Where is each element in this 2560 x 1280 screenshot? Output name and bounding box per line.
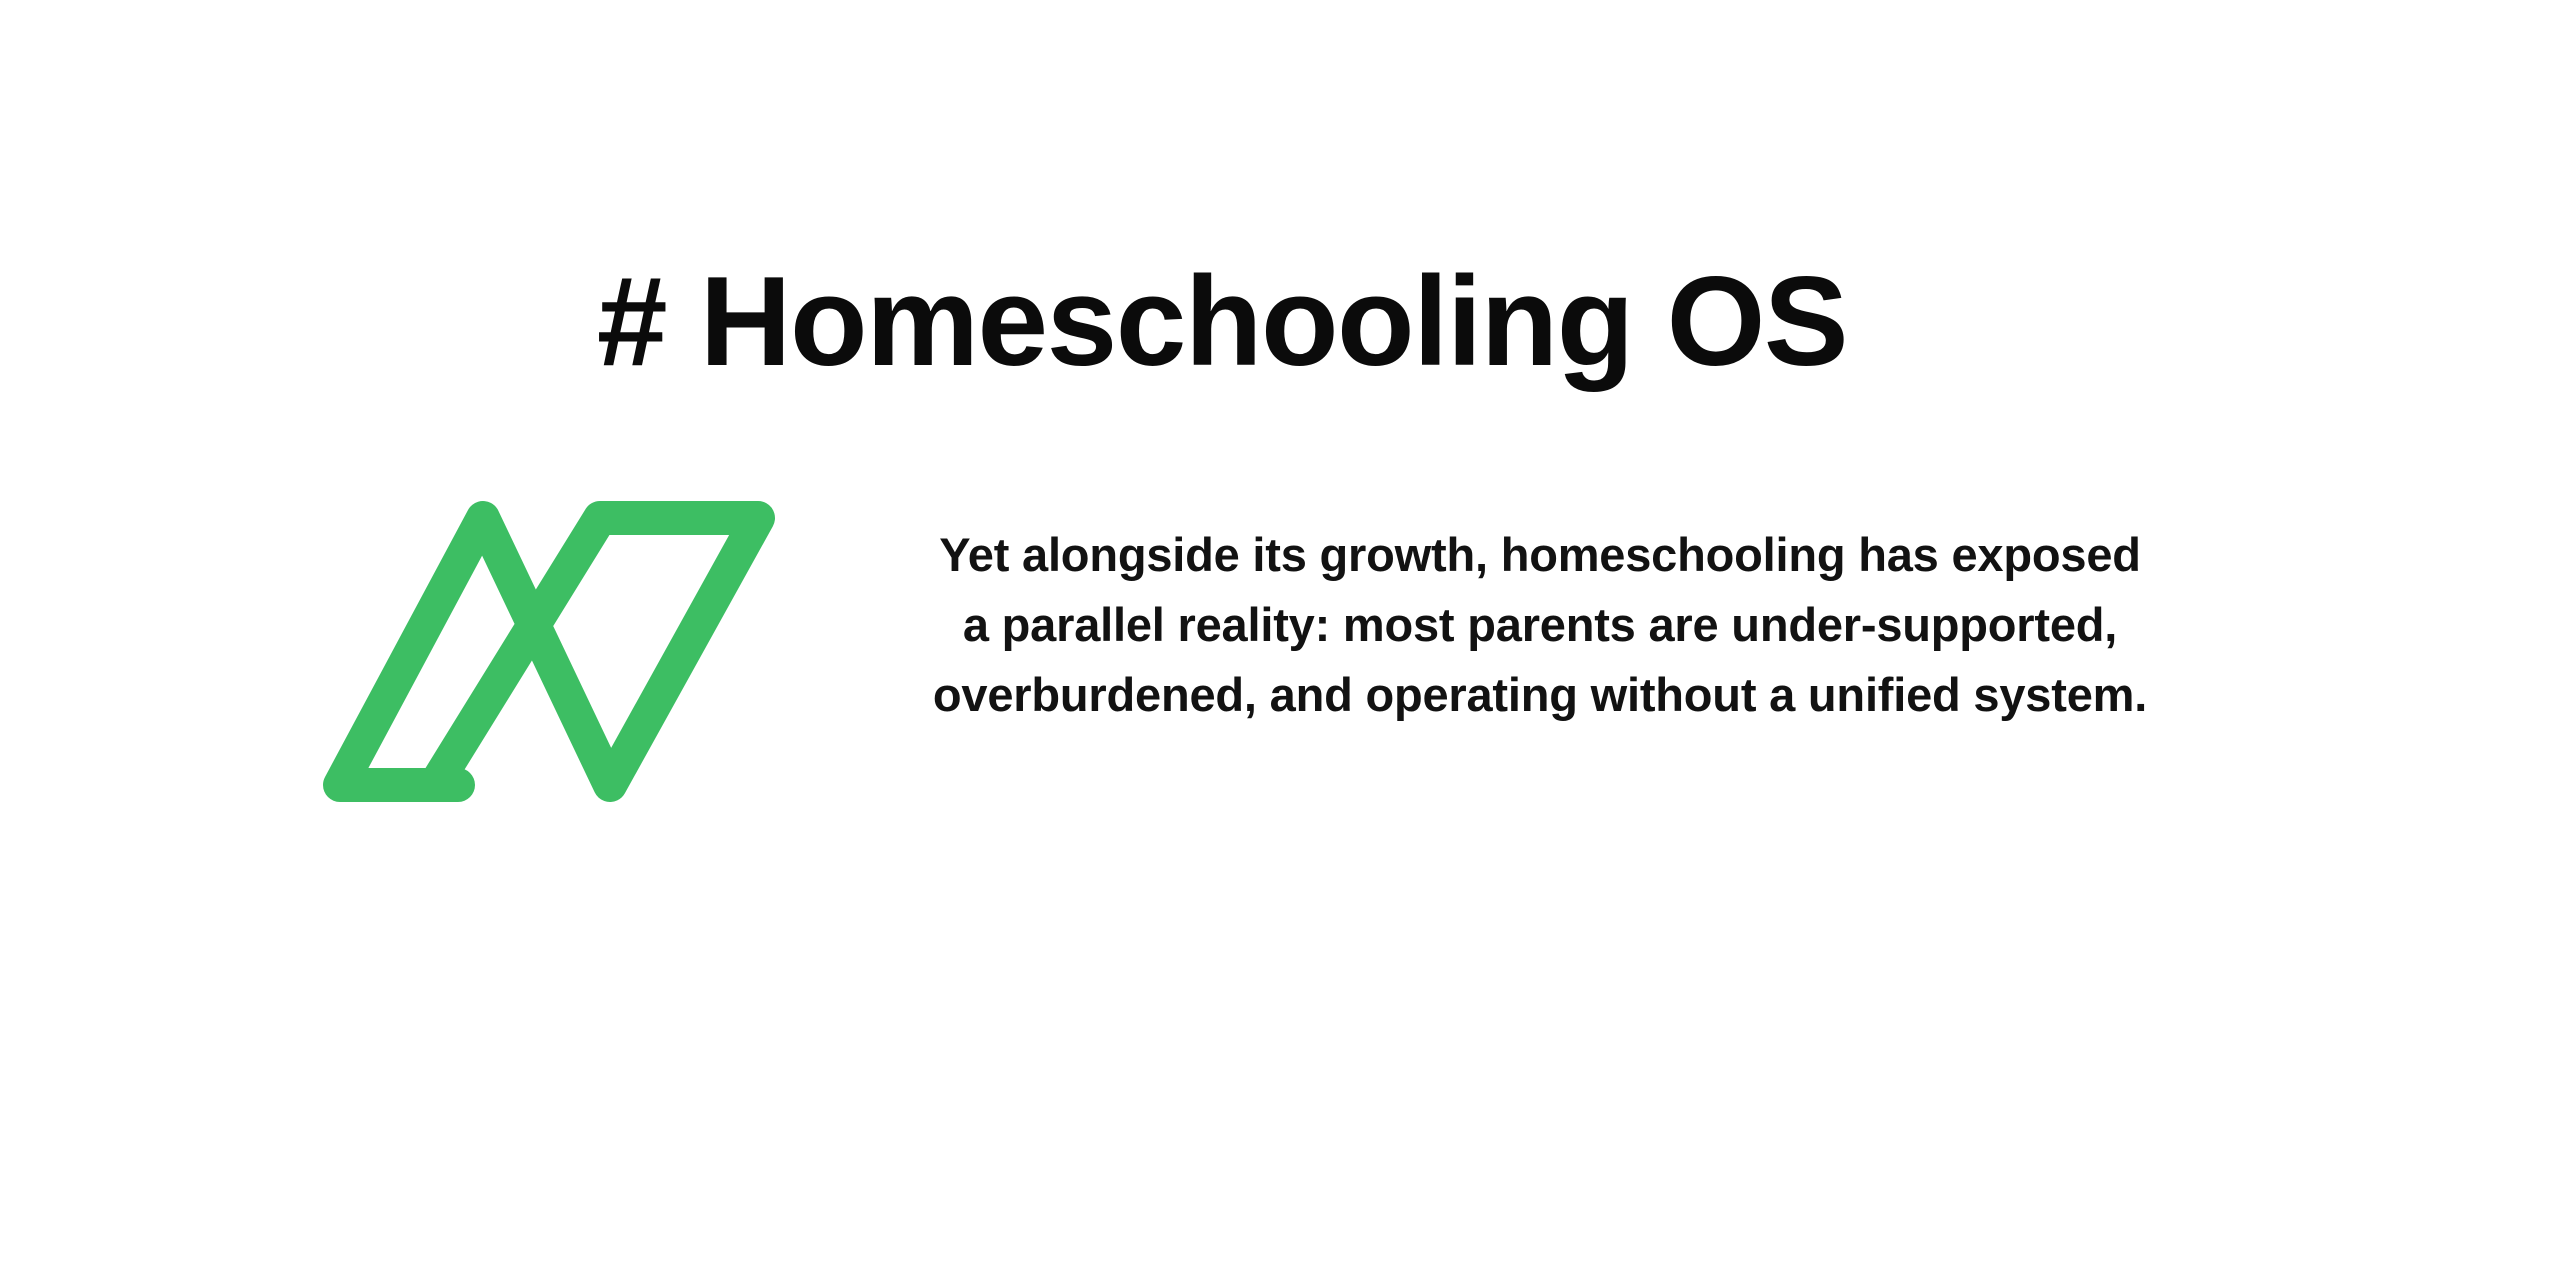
body-paragraph: Yet alongside its growth, homeschooling … [920,520,2160,730]
page-title: # Homeschooling OS [597,250,1847,392]
title-row: # Homeschooling OS [0,250,2560,392]
slide-canvas: # Homeschooling OS Yet alongside its gro… [0,0,2560,1280]
body-block: Yet alongside its growth, homeschooling … [920,520,2160,730]
crossed-loop-mark-icon [318,480,808,820]
logo-path [340,518,758,785]
brand-logo [318,480,808,820]
